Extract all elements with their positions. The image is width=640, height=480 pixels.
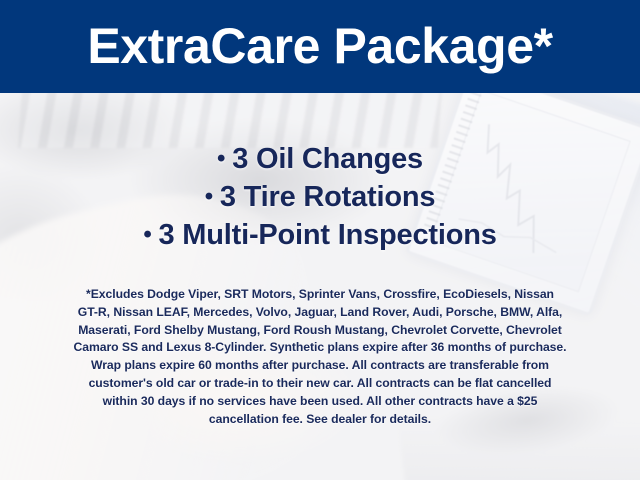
bullet-icon: •: [143, 221, 151, 248]
feature-list-item-label: 3 Tire Rotations: [220, 181, 435, 213]
disclaimer-line: Wrap plans expire 60 months after purcha…: [26, 357, 614, 375]
feature-list-item-label: 3 Multi-Point Inspections: [159, 219, 497, 251]
feature-list-item: •3 Tire Rotations: [0, 178, 640, 216]
extracare-package-ad: ExtraCare Package* •3 Oil Changes •3 Tir…: [0, 0, 640, 480]
bullet-icon: •: [205, 183, 213, 210]
feature-list-item: •3 Multi-Point Inspections: [0, 216, 640, 254]
disclaimer-line: cancellation fee. See dealer for details…: [26, 411, 614, 429]
page-title: ExtraCare Package*: [0, 0, 640, 93]
header-banner: ExtraCare Package*: [0, 0, 640, 93]
disclaimer-text: *Excludes Dodge Viper, SRT Motors, Sprin…: [26, 286, 614, 428]
bullet-icon: •: [217, 145, 225, 172]
disclaimer-line: customer's old car or trade-in to their …: [26, 375, 614, 393]
disclaimer-line: GT-R, Nissan LEAF, Mercedes, Volvo, Jagu…: [26, 304, 614, 322]
feature-list-item-label: 3 Oil Changes: [232, 143, 423, 175]
disclaimer-line: within 30 days if no services have been …: [26, 393, 614, 411]
disclaimer-line: Maserati, Ford Shelby Mustang, Ford Rous…: [26, 322, 614, 340]
disclaimer-line: Camaro SS and Lexus 8-Cylinder. Syntheti…: [26, 339, 614, 357]
feature-list-item: •3 Oil Changes: [0, 140, 640, 178]
feature-list: •3 Oil Changes •3 Tire Rotations •3 Mult…: [0, 140, 640, 254]
disclaimer-line: *Excludes Dodge Viper, SRT Motors, Sprin…: [26, 286, 614, 304]
